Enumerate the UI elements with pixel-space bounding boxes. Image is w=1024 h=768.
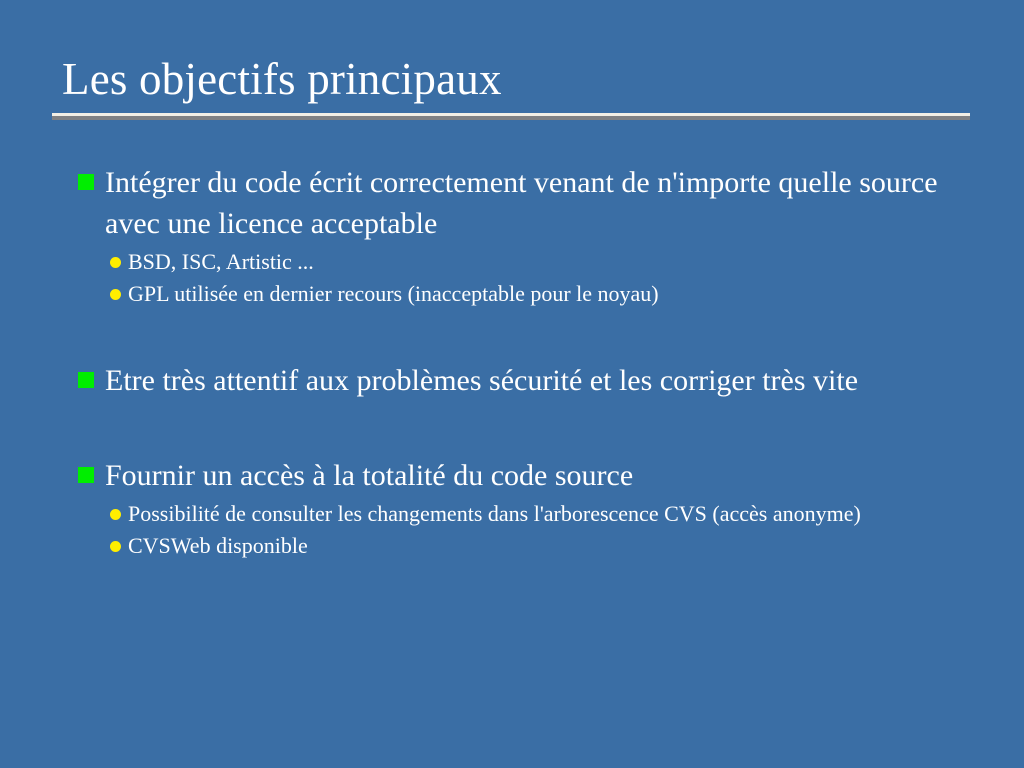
page-title: Les objectifs principaux (52, 52, 970, 106)
bullet-block: Fournir un accès à la totalité du code s… (78, 455, 978, 562)
bullet-item-level2: BSD, ISC, Artistic ... (78, 246, 978, 278)
sub-bullet-list: BSD, ISC, Artistic ... GPL utilisée en d… (78, 246, 978, 310)
bullet-item-level2: CVSWeb disponible (78, 530, 978, 562)
bullet-item-level1: Fournir un accès à la totalité du code s… (78, 455, 967, 496)
bullet-level2-label: GPL utilisée en dernier recours (inaccep… (128, 278, 978, 310)
bullet-level1-label: Intégrer du code écrit correctement vena… (105, 162, 967, 244)
square-bullet-icon (78, 174, 94, 190)
bullet-level1-label: Fournir un accès à la totalité du code s… (105, 455, 967, 496)
bullet-level2-label: CVSWeb disponible (128, 530, 978, 562)
title-divider (52, 113, 970, 120)
title-divider-shadow (52, 116, 970, 120)
bullet-item-level1: Intégrer du code écrit correctement vena… (78, 162, 967, 244)
bullet-level2-label: Possibilité de consulter les changements… (128, 498, 978, 530)
bullet-level1-label: Etre très attentif aux problèmes sécurit… (105, 360, 967, 401)
dot-bullet-icon (110, 509, 121, 520)
dot-bullet-icon (110, 257, 121, 268)
bullet-item-level1: Etre très attentif aux problèmes sécurit… (78, 360, 967, 401)
bullet-block: Etre très attentif aux problèmes sécurit… (78, 360, 978, 401)
dot-bullet-icon (110, 289, 121, 300)
bullet-item-level2: GPL utilisée en dernier recours (inaccep… (78, 278, 978, 310)
slide-title-area: Les objectifs principaux (52, 52, 970, 120)
bullet-item-level2: Possibilité de consulter les changements… (78, 498, 978, 530)
square-bullet-icon (78, 467, 94, 483)
slide-body: Intégrer du code écrit correctement vena… (78, 162, 978, 562)
square-bullet-icon (78, 372, 94, 388)
sub-bullet-list: Possibilité de consulter les changements… (78, 498, 978, 562)
dot-bullet-icon (110, 541, 121, 552)
bullet-block: Intégrer du code écrit correctement vena… (78, 162, 978, 310)
presentation-slide: Les objectifs principaux Intégrer du cod… (0, 0, 1024, 768)
bullet-level2-label: BSD, ISC, Artistic ... (128, 246, 978, 278)
